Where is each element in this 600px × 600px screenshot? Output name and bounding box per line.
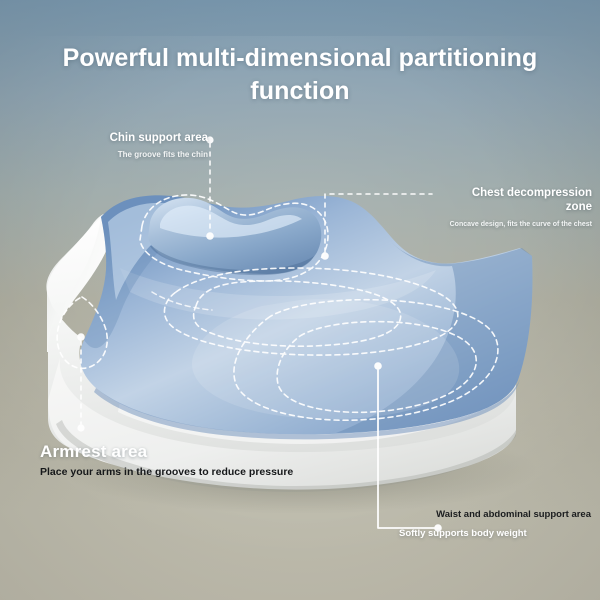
zone-outline-upper-band: [164, 268, 457, 355]
callout-chest-subtitle: Concave design, fits the curve of the ch…: [434, 220, 592, 229]
leader-chest: [321, 194, 432, 260]
callout-chest-title: Chest decompression zone: [434, 186, 592, 215]
zone-outline-waist: [234, 300, 498, 421]
callout-waist-subtitle: Softly supports body weight: [395, 528, 591, 540]
callout-armrest-title: Armrest area: [40, 441, 370, 462]
page-title: Powerful multi-dimensional partitioning …: [0, 42, 600, 108]
callout-chest-decompression: Chest decompression zone Concave design,…: [434, 186, 592, 229]
zone-outline-chin: [140, 195, 328, 281]
callout-armrest-subtitle: Place your arms in the grooves to reduce…: [40, 466, 370, 480]
chin-support-bump: [148, 198, 321, 275]
zone-outline-waist-inner: [277, 322, 476, 413]
callout-chin-support: Chin support area The groove fits the ch…: [60, 131, 208, 161]
callout-waist-abdominal: Waist and abdominal support area Softly …: [395, 509, 591, 540]
pillow-blue-surface: [80, 195, 532, 439]
callout-waist-title: Waist and abdominal support area: [395, 509, 591, 521]
zone-outline-chest: [194, 281, 401, 346]
product-infographic-poster: Powerful multi-dimensional partitioning …: [0, 0, 600, 600]
callout-chin-subtitle: The groove fits the chin: [60, 150, 208, 160]
callout-armrest: Armrest area Place your arms in the groo…: [40, 441, 370, 480]
leader-armrest: [77, 333, 85, 431]
zone-outline-armrest: [57, 297, 107, 368]
leader-waist: [374, 362, 442, 532]
callout-chin-title: Chin support area: [60, 131, 208, 145]
